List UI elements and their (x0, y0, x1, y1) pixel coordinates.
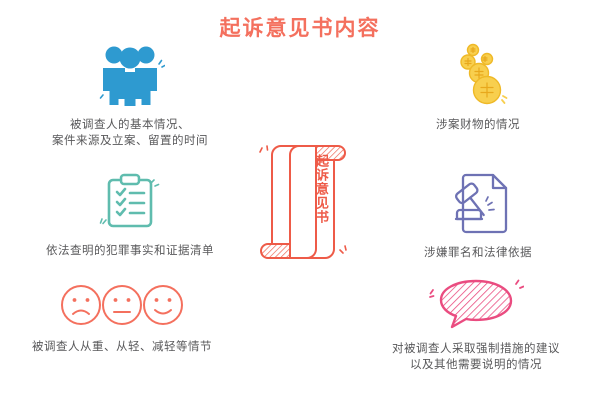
item-people: 被调查人的基本情况、 案件来源及立案、留置的时间 (10, 42, 250, 148)
people-group-icon (10, 42, 250, 110)
clipboard-checklist-icon (10, 172, 250, 236)
item-coins-label: 涉案财物的情况 (358, 116, 598, 132)
three-faces-icon (2, 282, 242, 332)
item-coins: 涉案财物的情况 (358, 42, 598, 132)
speech-bubble-icon (352, 278, 600, 334)
item-people-label: 被调查人的基本情况、 案件来源及立案、留置的时间 (10, 116, 250, 148)
item-bubble: 对被调查人采取强制措施的建议 以及其他需要说明的情况 (352, 278, 600, 372)
gavel-document-icon (358, 172, 598, 238)
page-title: 起诉意见书内容 (0, 12, 600, 42)
scroll-icon (253, 257, 353, 276)
infographic-canvas: 起诉意见书内容 被调查人的基本情况、 案件来源及立案 (0, 0, 600, 400)
coins-icon (358, 42, 598, 110)
center-scroll: 起诉意见书 (253, 132, 353, 272)
item-clipboard-label: 依法查明的犯罪事实和证据清单 (10, 242, 250, 258)
item-faces: 被调查人从重、从轻、减轻等情节 (2, 282, 242, 354)
item-clipboard: 依法查明的犯罪事实和证据清单 (10, 172, 250, 258)
item-bubble-label: 对被调查人采取强制措施的建议 以及其他需要说明的情况 (352, 340, 600, 372)
item-gavel: 涉嫌罪名和法律依据 (358, 172, 598, 260)
item-gavel-label: 涉嫌罪名和法律依据 (358, 244, 598, 260)
item-faces-label: 被调查人从重、从轻、减轻等情节 (2, 338, 242, 354)
scroll-label: 起诉意见书 (305, 154, 329, 246)
